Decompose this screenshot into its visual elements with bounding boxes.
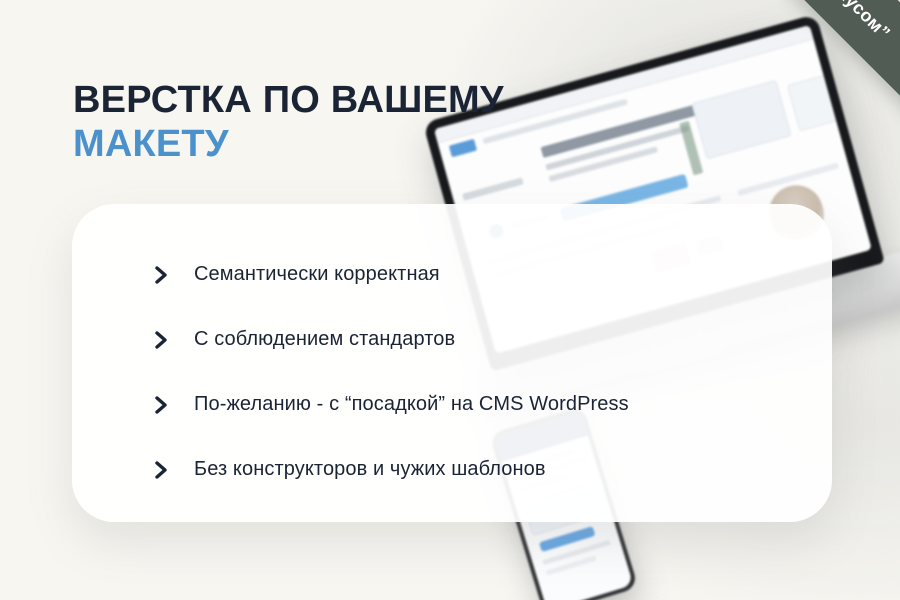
feature-list: Семантически корректная С соблюдением ст… xyxy=(150,242,832,502)
page-title-line-2: МАКЕТУ xyxy=(73,122,504,166)
mock-site-card xyxy=(691,80,791,159)
mock-site-card xyxy=(787,71,850,131)
page-title-line-1: ВЕРСТКА ПО ВАШЕМУ xyxy=(73,78,504,122)
chevron-right-icon xyxy=(150,394,172,416)
feature-label: Семантически корректная xyxy=(194,263,440,286)
chevron-right-icon xyxy=(150,459,172,481)
list-item: Семантически корректная xyxy=(150,242,832,307)
chevron-right-icon xyxy=(150,329,172,351)
list-item: По-желанию - с “посадкой” на CMS WordPre… xyxy=(150,372,832,437)
feature-card: Семантически корректная С соблюдением ст… xyxy=(72,204,832,522)
chevron-right-icon xyxy=(150,264,172,286)
slide-canvas: “Просто и со вкусом” ВЕРСТКА ПО ВАШЕМУ М… xyxy=(0,0,900,600)
list-item: С соблюдением стандартов xyxy=(150,307,832,372)
feature-label: Без конструкторов и чужих шаблонов xyxy=(194,458,546,481)
feature-label: По-желанию - с “посадкой” на CMS WordPre… xyxy=(194,393,629,416)
list-item: Без конструкторов и чужих шаблонов xyxy=(150,437,832,502)
feature-label: С соблюдением стандартов xyxy=(194,328,455,351)
page-title: ВЕРСТКА ПО ВАШЕМУ МАКЕТУ xyxy=(73,78,504,167)
mock-site-sidebar xyxy=(462,177,524,200)
